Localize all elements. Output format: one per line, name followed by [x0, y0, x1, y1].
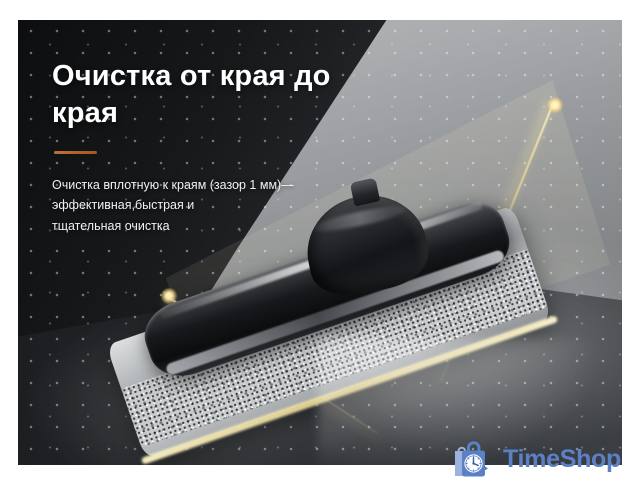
accent-divider	[54, 151, 97, 154]
subtitle-line-1: Очистка вплотную к краям (зазор 1 мм)—	[52, 175, 382, 195]
page-title: Очистка от края до края	[52, 58, 382, 132]
brand-name: TimeShop	[503, 447, 621, 472]
banner-copy-block: Очистка от края до края Очистка вплотную…	[52, 58, 382, 236]
subtitle-line-3: тщательная очистка	[52, 216, 382, 236]
subtitle-line-2: эффективная,быстрая и	[52, 195, 382, 215]
clock-shopping-bag-icon	[452, 438, 496, 480]
hero-banner: Очистка от края до края Очистка вплотную…	[18, 20, 622, 465]
brand-logo[interactable]: TimeShop	[452, 437, 621, 481]
banner-subtitle: Очистка вплотную к краям (зазор 1 мм)— э…	[52, 175, 382, 236]
headline-line-1: Очистка от края	[52, 60, 286, 92]
